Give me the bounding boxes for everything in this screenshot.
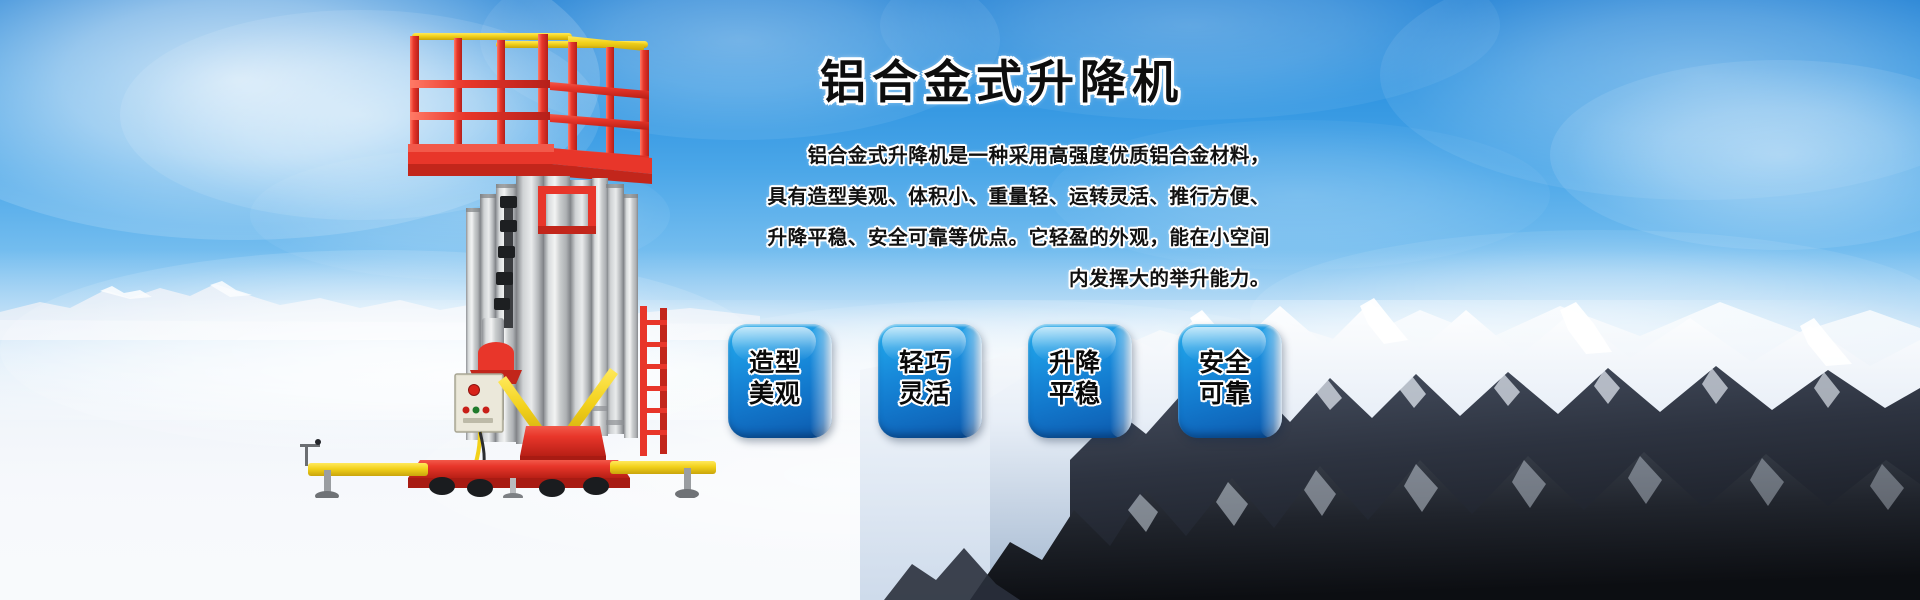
feature-badge-smooth-lift[interactable]: 升降 平稳: [1028, 324, 1132, 438]
badge-line-2: 可靠: [1199, 379, 1251, 410]
badge-label: 轻巧 灵活: [878, 324, 972, 434]
access-ladder: [640, 306, 667, 456]
description-line: 升降平稳、安全可靠等优点。它轻盈的外观，能在小空间: [730, 218, 1270, 259]
chassis-base: [308, 460, 716, 498]
description-line: 铝合金式升降机是一种采用高强度优质铝合金材料，: [730, 136, 1270, 177]
feature-badge-appearance[interactable]: 造型 美观: [728, 324, 832, 438]
badge-line-1: 安全: [1199, 348, 1251, 379]
counterweight: [520, 426, 606, 464]
badge-line-2: 灵活: [899, 379, 951, 410]
badge-label: 造型 美观: [728, 324, 822, 434]
description-line: 具有造型美观、体积小、重量轻、运转灵活、推行方便、: [730, 177, 1270, 218]
badge-label: 升降 平稳: [1028, 324, 1122, 434]
aluminum-alloy-lift-machine: [300, 8, 720, 498]
badge-line-2: 平稳: [1049, 379, 1101, 410]
badge-line-2: 美观: [749, 379, 801, 410]
ground-marker-poles: [300, 439, 321, 466]
badge-line-1: 造型: [749, 348, 801, 379]
page-title: 铝合金式升降机: [820, 52, 1240, 112]
feature-badge-row: 造型 美观 轻巧 灵活 升降 平稳 安全 可靠: [728, 324, 1308, 444]
description-line: 内发挥大的举升能力。: [730, 259, 1270, 300]
feature-badge-lightweight[interactable]: 轻巧 灵活: [878, 324, 982, 438]
product-description: 铝合金式升降机是一种采用高强度优质铝合金材料， 具有造型美观、体积小、重量轻、运…: [730, 136, 1270, 300]
feature-badge-safety[interactable]: 安全 可靠: [1178, 324, 1282, 438]
badge-label: 安全 可靠: [1178, 324, 1272, 434]
product-banner: 铝合金式升降机 铝合金式升降机是一种采用高强度优质铝合金材料， 具有造型美观、体…: [0, 0, 1920, 600]
badge-line-1: 升降: [1049, 348, 1101, 379]
badge-line-1: 轻巧: [899, 348, 951, 379]
